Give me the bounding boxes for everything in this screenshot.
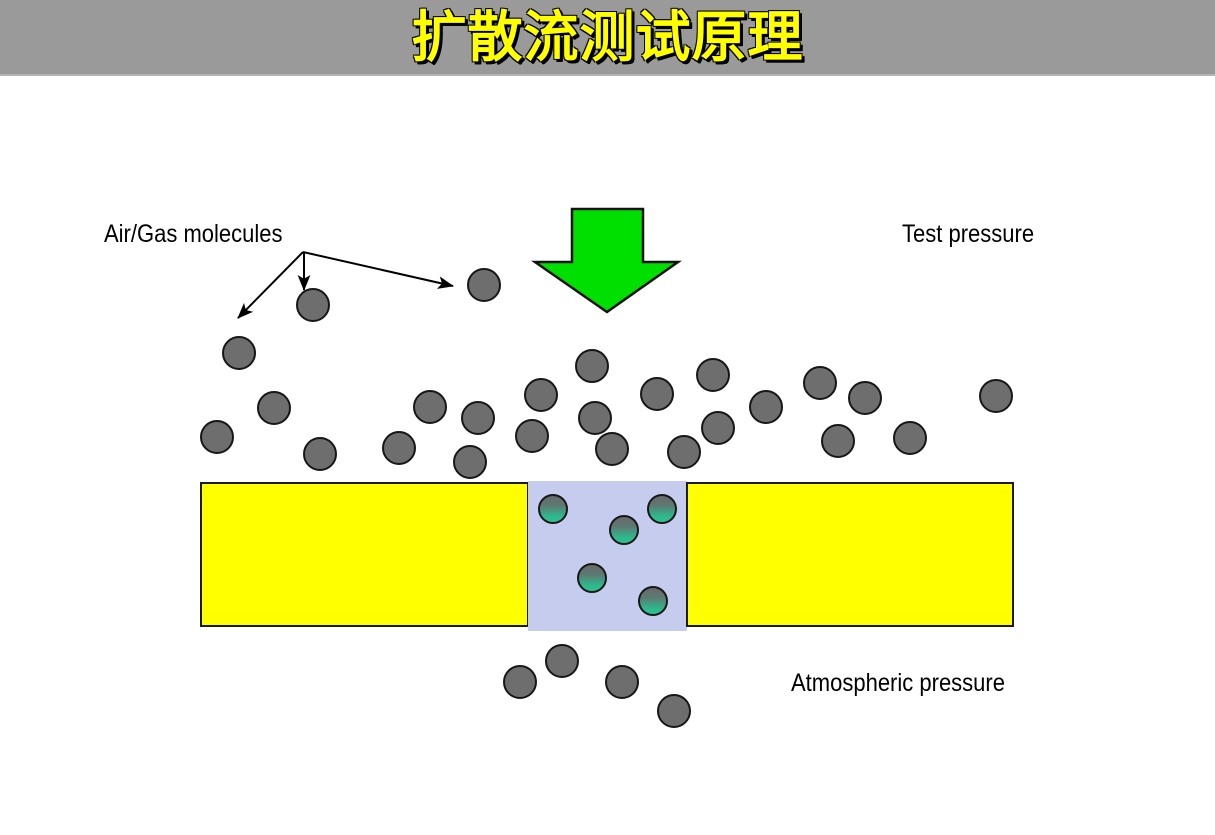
- gas-molecule: [749, 390, 783, 424]
- gas-molecule: [200, 420, 234, 454]
- gas-molecule: [979, 379, 1013, 413]
- gas-molecule: [545, 644, 579, 678]
- gas-molecule: [303, 437, 337, 471]
- callout-arrows: [238, 252, 453, 318]
- gas-molecule: [524, 378, 558, 412]
- gas-molecule: [701, 411, 735, 445]
- gas-molecule: [595, 432, 629, 466]
- gas-molecule: [696, 358, 730, 392]
- gas-molecule: [667, 435, 701, 469]
- diffusing-molecule: [538, 494, 568, 524]
- gas-molecule: [467, 268, 501, 302]
- gas-molecule: [575, 349, 609, 383]
- label-atmospheric-pressure: Atmospheric pressure: [791, 669, 1005, 698]
- diffusing-molecule: [638, 586, 668, 616]
- gas-molecule: [803, 366, 837, 400]
- gas-molecule: [382, 431, 416, 465]
- gas-molecule: [453, 445, 487, 479]
- page-title: 扩散流测试原理: [0, 2, 1215, 72]
- gas-molecule: [657, 694, 691, 728]
- label-test-pressure: Test pressure: [902, 220, 1034, 249]
- gas-molecule: [821, 424, 855, 458]
- gas-molecule: [893, 421, 927, 455]
- gas-molecule: [296, 288, 330, 322]
- diffusing-molecule: [647, 494, 677, 524]
- gas-molecule: [515, 419, 549, 453]
- gas-molecule: [640, 377, 674, 411]
- gas-molecule: [578, 401, 612, 435]
- gas-molecule: [461, 401, 495, 435]
- pointer-arrow-left: [238, 252, 303, 318]
- pointer-arrow-right: [303, 252, 453, 286]
- test-pressure-arrow-icon: [535, 209, 678, 312]
- diffusing-molecule: [609, 515, 639, 545]
- diffusing-molecule: [577, 563, 607, 593]
- membrane-block-right: [686, 482, 1014, 627]
- slide-canvas: 扩散流测试原理 Air/Gas molecules Test pressure …: [0, 0, 1215, 835]
- gas-molecule: [605, 665, 639, 699]
- gas-molecule: [413, 390, 447, 424]
- gas-molecule: [848, 381, 882, 415]
- gas-molecule: [503, 665, 537, 699]
- gas-molecule: [222, 336, 256, 370]
- gas-molecule: [257, 391, 291, 425]
- membrane-block-left: [200, 482, 529, 627]
- label-air-gas-molecules: Air/Gas molecules: [104, 220, 283, 249]
